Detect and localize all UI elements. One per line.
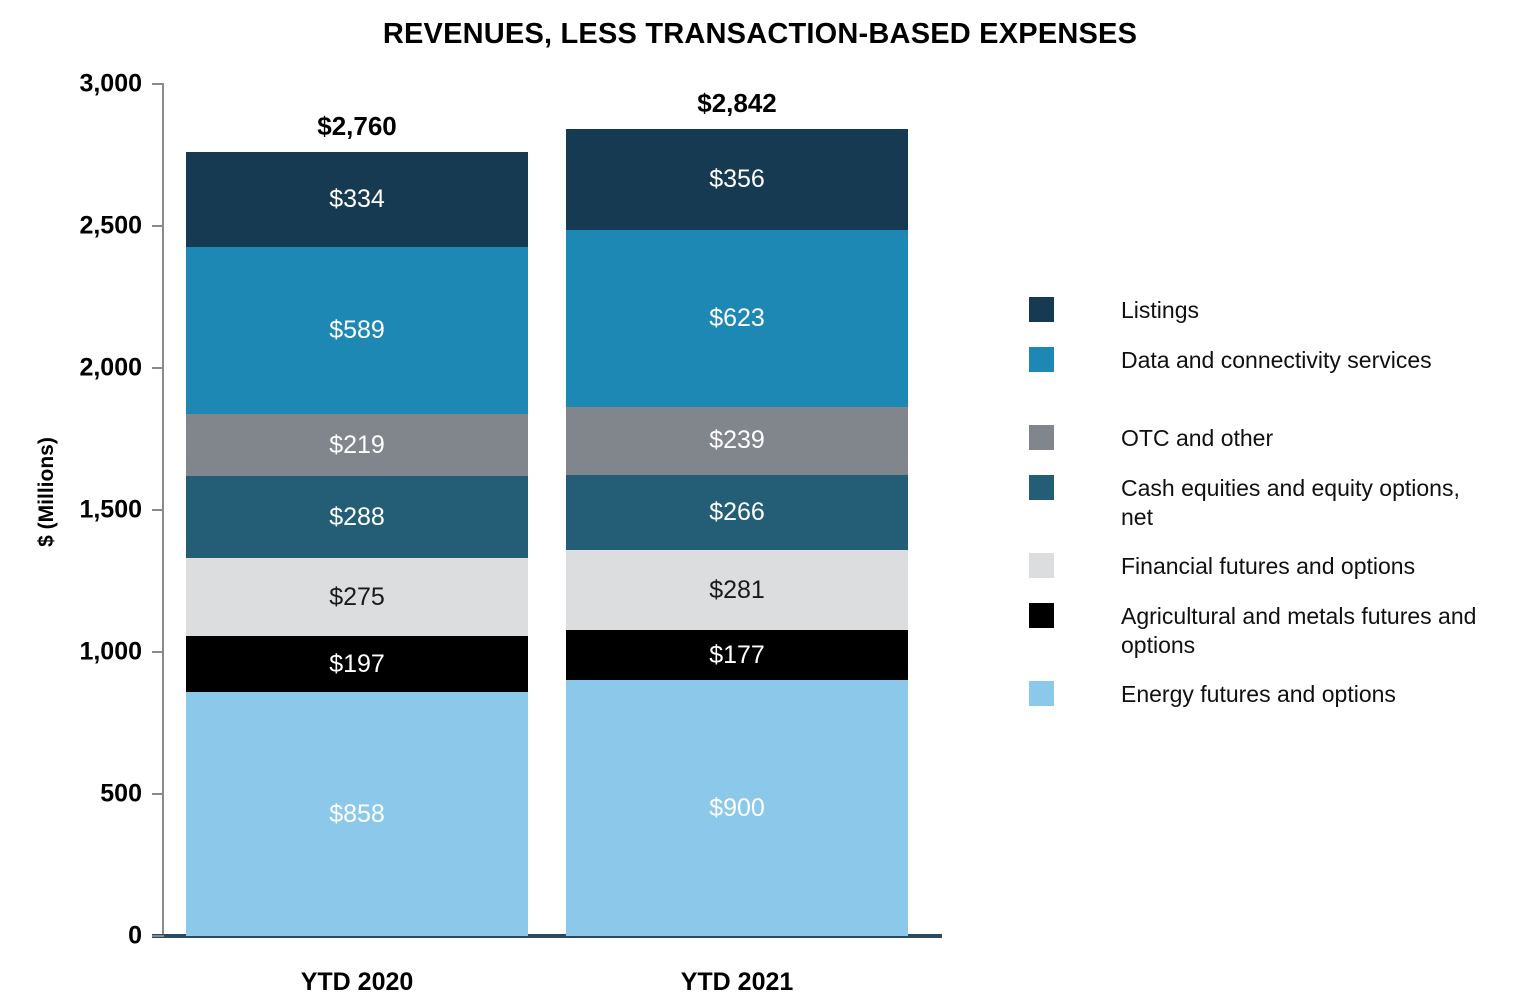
bar-segment[interactable]: $239	[566, 407, 908, 475]
legend-swatch-icon	[1029, 681, 1054, 706]
legend-item[interactable]: Agricultural and metals futures and opti…	[1029, 602, 1481, 661]
bar-group[interactable]: $2,842$356$623$239$266$281$177$900YTD 20…	[566, 84, 908, 936]
legend-swatch-icon	[1029, 297, 1054, 322]
legend-swatch-icon	[1029, 475, 1054, 500]
bar-stack: $356$623$239$266$281$177$900	[566, 129, 908, 936]
legend-item[interactable]: Financial futures and options	[1029, 552, 1415, 581]
legend-item[interactable]: Cash equities and equity options, net	[1029, 474, 1481, 533]
legend-item[interactable]: Data and connectivity services	[1029, 346, 1432, 375]
legend-swatch-icon	[1029, 603, 1054, 628]
legend-item-label: Cash equities and equity options, net	[1121, 474, 1481, 533]
y-axis-title: $ (Millions)	[35, 402, 59, 582]
y-axis-tick-label: 500	[22, 780, 142, 809]
bar-segment[interactable]: $266	[566, 475, 908, 551]
legend-item-label: Listings	[1121, 296, 1199, 325]
legend-swatch-icon	[1029, 425, 1054, 450]
x-axis-category-label: YTD 2020	[186, 968, 528, 997]
bar-segment[interactable]: $334	[186, 152, 528, 247]
bar-segment[interactable]: $858	[186, 692, 528, 936]
legend-item-label: Agricultural and metals futures and opti…	[1121, 602, 1481, 661]
plot-area: $2,760$334$589$219$288$275$197$858YTD 20…	[163, 84, 943, 936]
y-axis-tick-label: 1,500	[22, 496, 142, 525]
x-axis-category-label: YTD 2021	[566, 968, 908, 997]
bar-segment[interactable]: $275	[186, 558, 528, 636]
bar-segment[interactable]: $900	[566, 680, 908, 936]
y-axis-tick-label: 1,000	[22, 638, 142, 667]
y-axis-tick-label: 2,000	[22, 354, 142, 383]
legend-item[interactable]: OTC and other	[1029, 424, 1273, 453]
bar-total-label: $2,760	[186, 111, 528, 142]
legend-item[interactable]: Listings	[1029, 296, 1199, 325]
legend-item-label: Energy futures and options	[1121, 680, 1396, 709]
legend-swatch-icon	[1029, 347, 1054, 372]
y-axis-tick-label: 0	[22, 922, 142, 951]
bar-segment[interactable]: $197	[186, 636, 528, 692]
legend-item[interactable]: Energy futures and options	[1029, 680, 1396, 709]
bar-segment[interactable]: $281	[566, 550, 908, 630]
y-axis-tick-label: 2,500	[22, 212, 142, 241]
bar-segment[interactable]: $288	[186, 476, 528, 558]
legend-item-label: Data and connectivity services	[1121, 346, 1432, 375]
bar-segment[interactable]: $356	[566, 129, 908, 230]
legend-item-label: OTC and other	[1121, 424, 1273, 453]
bar-total-label: $2,842	[566, 88, 908, 119]
bar-group[interactable]: $2,760$334$589$219$288$275$197$858YTD 20…	[186, 84, 528, 936]
bar-segment[interactable]: $177	[566, 630, 908, 680]
legend-swatch-icon	[1029, 553, 1054, 578]
bar-segment[interactable]: $589	[186, 247, 528, 414]
legend-item-label: Financial futures and options	[1121, 552, 1415, 581]
bar-segment[interactable]: $623	[566, 230, 908, 407]
y-axis-tick-label: 3,000	[22, 70, 142, 99]
bar-stack: $334$589$219$288$275$197$858	[186, 152, 528, 936]
bar-segment[interactable]: $219	[186, 414, 528, 476]
chart-title: REVENUES, LESS TRANSACTION-BASED EXPENSE…	[0, 18, 1520, 51]
